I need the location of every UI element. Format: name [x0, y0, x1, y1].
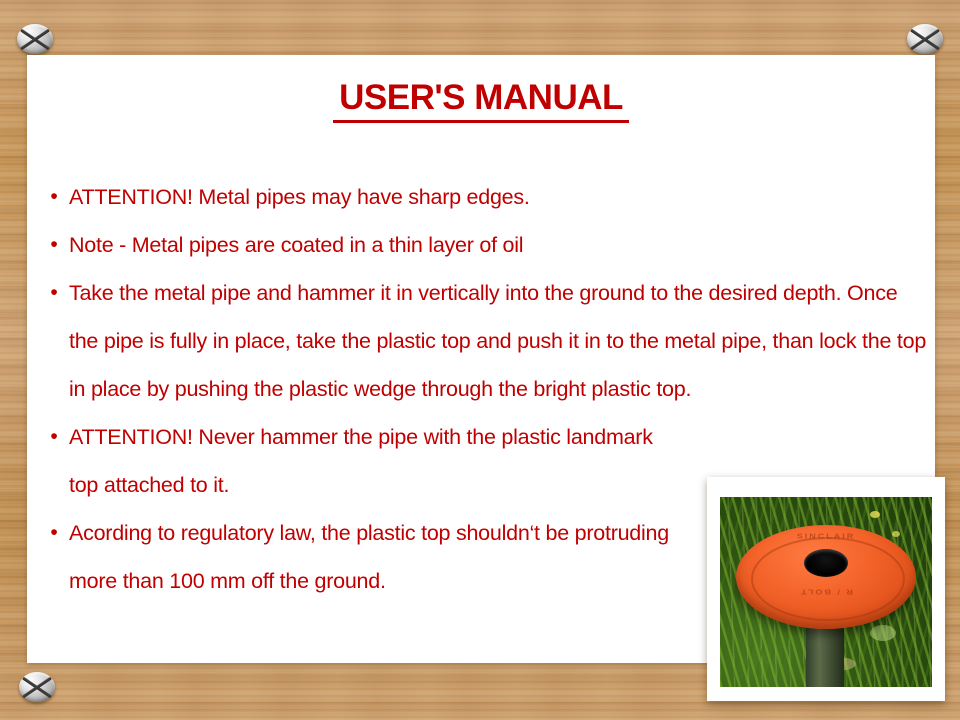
list-item: • Note - Metal pipes are coated in a thi… [39, 221, 935, 269]
bullet-marker-icon: • [39, 509, 69, 557]
page-title-text: USER'S MANUAL [339, 78, 623, 117]
list-item-text: Acording to regulatory law, the plastic … [69, 509, 673, 605]
seed-head [870, 625, 896, 641]
list-item-text: ATTENTION! Metal pipes may have sharp ed… [69, 173, 673, 221]
bullet-marker-icon: • [39, 413, 69, 461]
list-item-text: Take the metal pipe and hammer it in ver… [69, 269, 935, 413]
slide-canvas: USER'S MANUAL • ATTENTION! Metal pipes m… [0, 0, 960, 720]
flower-speck [870, 511, 880, 518]
bullet-marker-icon: • [39, 269, 69, 317]
list-item: • ATTENTION! Metal pipes may have sharp … [39, 173, 935, 221]
list-item-text: ATTENTION! Never hammer the pipe with th… [69, 413, 673, 509]
cap-label-top: SINCLAIR [736, 532, 916, 540]
photo-frame: SINCLAIR R / BOLT [707, 477, 945, 701]
list-item-text: Note - Metal pipes are coated in a thin … [69, 221, 673, 269]
screw-icon [19, 672, 55, 702]
landmark-cap-photo: SINCLAIR R / BOLT [720, 497, 932, 687]
screw-icon [17, 24, 53, 54]
orange-cap: SINCLAIR R / BOLT [736, 525, 916, 629]
title-underline [333, 120, 629, 123]
cap-center-hole [804, 549, 848, 577]
cap-label-bottom: R / BOLT [736, 588, 916, 596]
screw-icon [907, 24, 943, 54]
bullet-marker-icon: • [39, 221, 69, 269]
page-title: USER'S MANUAL [27, 78, 935, 123]
bullet-marker-icon: • [39, 173, 69, 221]
list-item: • Take the metal pipe and hammer it in v… [39, 269, 935, 413]
